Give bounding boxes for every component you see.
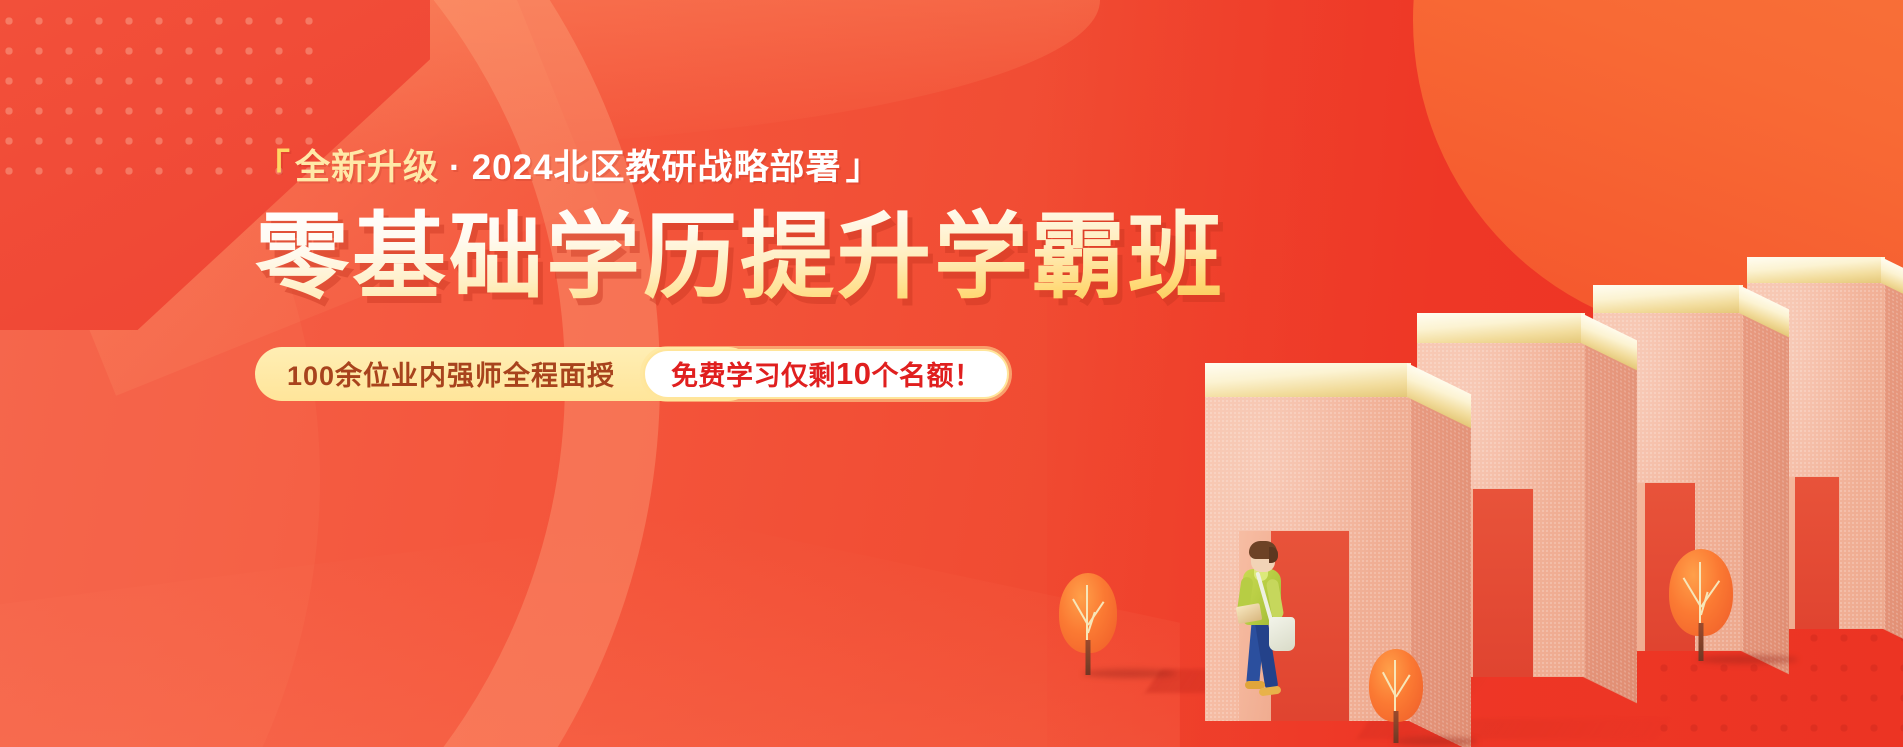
subtitle-separator: · bbox=[449, 148, 462, 187]
decorative-dot-grid-bottom-right bbox=[1649, 593, 1903, 747]
bracket-right-glyph: 」 bbox=[846, 148, 882, 187]
seats-suffix: 个名额！ bbox=[871, 354, 981, 393]
subtitle-rest: 2024北区教研战略部署 bbox=[472, 148, 842, 187]
banner-pill-group: 100余位业内强师全程面授 免费学习仅剩10个名额！ bbox=[255, 347, 755, 401]
banner-headline: 零基础学历提升学霸班 bbox=[255, 207, 1255, 307]
pill-seats-remaining-badge: 免费学习仅剩10个名额！ bbox=[643, 349, 1009, 399]
subtitle-highlight: 全新升级 bbox=[295, 148, 439, 187]
banner-subtitle: 「全新升级·2024北区教研战略部署」 bbox=[255, 150, 1255, 185]
bracket-left-glyph: 「 bbox=[255, 148, 291, 187]
seats-count: 10 bbox=[836, 356, 871, 392]
banner-copy-block: 「全新升级·2024北区教研战略部署」 零基础学历提升学霸班 100余位业内强师… bbox=[255, 150, 1255, 401]
seats-prefix: 免费学习仅剩 bbox=[671, 354, 836, 393]
promo-banner: 「全新升级·2024北区教研战略部署」 零基础学历提升学霸班 100余位业内强师… bbox=[0, 0, 1903, 747]
